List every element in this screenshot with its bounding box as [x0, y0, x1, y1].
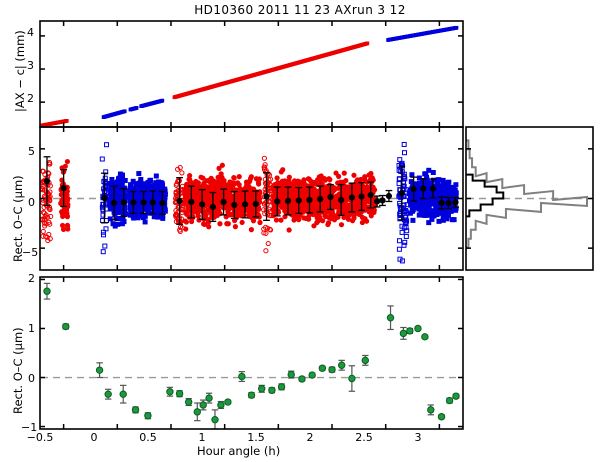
middle-scatter-point-6 [185, 212, 189, 216]
middle-mean-marker-7 [150, 199, 156, 205]
middle-mean-marker-19 [285, 198, 291, 204]
middle-mean-marker-29 [379, 197, 385, 203]
bottom-data-point-37 [453, 393, 459, 399]
middle-scatter-point-8 [304, 209, 308, 213]
middle-mean-marker-37 [452, 199, 458, 205]
middle-mean-marker-9 [176, 198, 182, 204]
middle-mean-marker-35 [438, 200, 444, 206]
middle-scatter-point-10 [454, 208, 458, 212]
middle-scatter-point-8 [372, 208, 376, 212]
middle-scatter-point-9 [403, 151, 407, 155]
middle-scatter-point-6 [258, 220, 262, 224]
bottom-data-point-2 [96, 367, 102, 373]
middle-scatter-point-5 [180, 171, 184, 175]
middle-scatter-point-6 [249, 228, 253, 232]
middle-scatter-point-6 [226, 194, 230, 198]
middle-mean-marker-12 [210, 204, 216, 210]
middle-mean-marker-3 [111, 200, 117, 206]
middle-scatter-point-8 [291, 185, 295, 189]
middle-scatter-point-6 [248, 179, 252, 183]
middle-scatter-point-8 [321, 219, 325, 223]
bottom-data-point-9 [185, 399, 191, 405]
middle-scatter-point-10 [431, 171, 435, 175]
middle-scatter-point-3 [117, 210, 121, 214]
middle-scatter-point-8 [363, 177, 367, 181]
middle-mean-marker-16 [253, 201, 259, 207]
middle-scatter-point-3 [113, 224, 117, 228]
middle-scatter-point-3 [118, 172, 122, 176]
bottom-data-point-34 [428, 407, 434, 413]
middle-scatter-point-9 [397, 182, 401, 186]
middle-scatter-point-4 [128, 187, 132, 191]
middle-scatter-point-8 [302, 216, 306, 220]
middle-scatter-point-8 [356, 201, 360, 205]
middle-scatter-point-8 [346, 217, 350, 221]
middle-scatter-point-6 [197, 218, 201, 222]
middle-scatter-point-6 [204, 213, 208, 217]
middle-scatter-point-4 [150, 185, 154, 189]
middle-mean-marker-18 [274, 198, 280, 204]
bottom-panel-frame [40, 277, 463, 429]
middle-scatter-point-10 [418, 205, 422, 209]
middle-scatter-point-4 [163, 208, 167, 212]
top-marker-3 [161, 99, 164, 103]
middle-scatter-point-9 [397, 247, 401, 251]
middle-scatter-point-10 [419, 210, 423, 214]
middle-scatter-point-8 [275, 176, 279, 180]
bottom-data-point-4 [120, 391, 126, 397]
middle-scatter-point-3 [124, 212, 128, 216]
middle-scatter-point-6 [189, 219, 193, 223]
bottom-data-point-11 [200, 402, 206, 408]
middle-scatter-point-6 [248, 199, 252, 203]
top-marker-1 [123, 109, 126, 113]
middle-mean-marker-28 [374, 198, 380, 204]
middle-mean-marker-22 [317, 196, 323, 202]
middle-scatter-point-8 [295, 215, 299, 219]
bottom-data-point-18 [258, 386, 264, 392]
middle-scatter-point-6 [227, 182, 231, 186]
middle-mean-marker-32 [411, 186, 417, 192]
middle-scatter-point-6 [206, 217, 210, 221]
middle-scatter-point-3 [122, 220, 126, 224]
bottom-data-point-21 [288, 371, 294, 377]
middle-scatter-point-10 [436, 184, 440, 188]
middle-scatter-point-6 [215, 185, 219, 189]
bottom-data-point-6 [145, 413, 151, 419]
middle-scatter-point-1 [60, 223, 64, 227]
middle-mean-marker-34 [430, 185, 436, 191]
middle-scatter-point-6 [207, 225, 211, 229]
middle-scatter-point-4 [154, 181, 158, 185]
middle-mean-marker-1 [61, 185, 67, 191]
top-marker-4 [366, 41, 369, 45]
middle-scatter-point-8 [326, 222, 330, 226]
middle-scatter-point-8 [285, 180, 289, 184]
middle-mean-marker-36 [445, 200, 451, 206]
middle-scatter-point-10 [430, 217, 434, 221]
middle-scatter-point-6 [257, 177, 261, 181]
middle-scatter-point-3 [110, 177, 114, 181]
middle-scatter-point-6 [237, 195, 241, 199]
middle-scatter-point-6 [199, 175, 203, 179]
middle-scatter-point-4 [160, 185, 164, 189]
middle-scatter-point-1 [64, 208, 68, 212]
middle-scatter-point-6 [218, 222, 222, 226]
middle-mean-marker-2 [101, 195, 107, 201]
middle-scatter-point-6 [231, 182, 235, 186]
middle-scatter-point-7 [264, 249, 268, 253]
bottom-data-point-1 [63, 323, 69, 329]
bottom-data-point-23 [309, 372, 315, 378]
middle-scatter-point-4 [139, 183, 143, 187]
middle-scatter-point-6 [219, 172, 223, 176]
bottom-panel-plot-area [41, 283, 462, 429]
middle-scatter-point-6 [232, 175, 236, 179]
bottom-data-point-20 [278, 384, 284, 390]
middle-scatter-point-9 [402, 142, 406, 146]
middle-scatter-point-4 [137, 172, 141, 176]
middle-scatter-point-4 [131, 179, 135, 183]
middle-scatter-point-8 [346, 203, 350, 207]
middle-scatter-point-4 [155, 215, 159, 219]
middle-scatter-point-8 [284, 210, 288, 214]
middle-scatter-point-6 [196, 214, 200, 218]
top-marker-2 [135, 106, 138, 110]
top-marker-5 [455, 26, 458, 30]
histogram-all-data-outline [466, 140, 587, 247]
middle-mean-marker-6 [141, 199, 147, 205]
middle-mean-marker-26 [358, 193, 364, 199]
middle-scatter-point-10 [442, 214, 446, 218]
middle-scatter-point-6 [184, 220, 188, 224]
middle-scatter-point-2 [105, 143, 109, 147]
middle-scatter-point-8 [335, 203, 339, 207]
middle-scatter-point-6 [208, 186, 212, 190]
bottom-data-point-15 [225, 399, 231, 405]
bottom-data-point-17 [248, 392, 254, 398]
middle-scatter-point-10 [423, 200, 427, 204]
bottom-data-point-35 [438, 414, 444, 420]
middle-scatter-point-10 [427, 168, 431, 172]
middle-scatter-point-6 [233, 218, 237, 222]
middle-mean-marker-14 [231, 202, 237, 208]
middle-scatter-point-2 [100, 157, 104, 161]
top-marker-0 [65, 119, 68, 123]
bottom-data-point-25 [329, 366, 335, 372]
middle-mean-marker-5 [130, 199, 136, 205]
middle-scatter-point-8 [291, 181, 295, 185]
middle-scatter-point-4 [154, 174, 158, 178]
middle-scatter-point-8 [365, 219, 369, 223]
middle-mean-marker-24 [338, 197, 344, 203]
middle-scatter-point-8 [345, 196, 349, 200]
middle-scatter-point-8 [300, 203, 304, 207]
bottom-data-point-19 [269, 387, 275, 393]
middle-scatter-point-10 [424, 207, 428, 211]
middle-scatter-point-6 [203, 184, 207, 188]
middle-scatter-point-10 [441, 178, 445, 182]
middle-scatter-point-2 [103, 244, 107, 248]
middle-scatter-point-9 [398, 239, 402, 243]
bottom-data-point-10 [194, 409, 200, 415]
middle-scatter-point-9 [400, 230, 404, 234]
bottom-data-point-31 [407, 328, 413, 334]
middle-scatter-point-6 [183, 201, 187, 205]
middle-scatter-point-6 [249, 175, 253, 179]
middle-mean-marker-13 [220, 199, 226, 205]
middle-scatter-point-6 [189, 180, 193, 184]
middle-scatter-point-10 [418, 181, 422, 185]
plot-graphics-layer [0, 0, 600, 462]
middle-scatter-point-8 [287, 228, 291, 232]
middle-scatter-point-8 [296, 179, 300, 183]
middle-mean-marker-8 [159, 200, 165, 206]
middle-scatter-point-10 [437, 219, 441, 223]
middle-scatter-point-6 [220, 163, 224, 167]
middle-scatter-point-3 [116, 192, 120, 196]
bottom-data-point-24 [319, 365, 325, 371]
bottom-data-point-29 [387, 314, 393, 320]
middle-mean-marker-20 [296, 197, 302, 203]
middle-scatter-point-8 [342, 171, 346, 175]
middle-scatter-point-4 [137, 198, 141, 202]
middle-scatter-point-3 [117, 206, 121, 210]
middle-scatter-point-2 [102, 233, 106, 237]
figure-canvas: HD10360 2011 11 23 AXrun 3 12 |AX − c| (… [0, 0, 600, 462]
middle-scatter-point-6 [226, 210, 230, 214]
middle-scatter-point-1 [65, 199, 69, 203]
bottom-data-point-33 [422, 334, 428, 340]
middle-scatter-point-10 [435, 191, 439, 195]
middle-scatter-point-10 [424, 193, 428, 197]
middle-scatter-point-6 [230, 186, 234, 190]
middle-scatter-point-10 [448, 190, 452, 194]
bottom-data-point-0 [44, 288, 50, 294]
bottom-data-point-7 [167, 389, 173, 395]
middle-scatter-point-1 [66, 224, 70, 228]
middle-scatter-point-6 [237, 175, 241, 179]
middle-scatter-point-8 [336, 194, 340, 198]
middle-scatter-point-8 [327, 215, 331, 219]
middle-scatter-point-6 [195, 208, 199, 212]
bottom-data-point-36 [446, 397, 452, 403]
middle-mean-marker-30 [386, 193, 392, 199]
middle-scatter-point-10 [410, 173, 414, 177]
middle-scatter-point-8 [337, 174, 341, 178]
bottom-data-point-8 [176, 390, 182, 396]
bottom-data-point-30 [400, 330, 406, 336]
middle-scatter-point-6 [241, 207, 245, 211]
bottom-data-point-3 [105, 391, 111, 397]
middle-panel-plot-area [40, 142, 462, 262]
bottom-data-point-5 [132, 407, 138, 413]
middle-scatter-point-4 [155, 209, 159, 213]
middle-scatter-point-6 [225, 222, 229, 226]
middle-scatter-point-6 [212, 179, 216, 183]
middle-scatter-point-8 [321, 205, 325, 209]
middle-scatter-point-8 [302, 178, 306, 182]
middle-scatter-point-8 [307, 177, 311, 181]
middle-scatter-point-0 [41, 229, 45, 233]
middle-mean-marker-0 [44, 178, 50, 184]
middle-scatter-point-4 [155, 192, 159, 196]
middle-scatter-point-8 [343, 192, 347, 196]
middle-mean-marker-21 [306, 197, 312, 203]
middle-scatter-point-10 [453, 192, 457, 196]
middle-scatter-point-7 [262, 156, 266, 160]
middle-scatter-point-7 [266, 241, 270, 245]
middle-scatter-point-8 [301, 193, 305, 197]
middle-scatter-point-4 [136, 205, 140, 209]
middle-scatter-point-8 [339, 223, 343, 227]
middle-scatter-point-6 [233, 225, 237, 229]
middle-scatter-point-8 [312, 210, 316, 214]
middle-scatter-point-8 [357, 212, 361, 216]
middle-scatter-point-8 [331, 187, 335, 191]
bottom-data-point-32 [415, 325, 421, 331]
middle-scatter-point-10 [411, 208, 415, 212]
middle-scatter-point-6 [245, 194, 249, 198]
middle-scatter-point-4 [146, 182, 150, 186]
bottom-data-point-14 [218, 402, 224, 408]
bottom-data-point-22 [299, 376, 305, 382]
middle-scatter-point-6 [257, 197, 261, 201]
middle-scatter-point-4 [150, 211, 154, 215]
middle-scatter-point-6 [240, 220, 244, 224]
middle-scatter-point-8 [279, 218, 283, 222]
middle-mean-marker-17 [263, 193, 269, 199]
middle-scatter-point-8 [352, 173, 356, 177]
middle-scatter-point-8 [332, 218, 336, 222]
middle-scatter-point-8 [312, 224, 316, 228]
middle-mean-marker-33 [420, 185, 426, 191]
bottom-data-point-16 [239, 373, 245, 379]
middle-scatter-point-8 [352, 216, 356, 220]
middle-scatter-point-4 [156, 185, 160, 189]
middle-scatter-point-10 [414, 203, 418, 207]
middle-scatter-point-10 [443, 192, 447, 196]
middle-scatter-point-8 [288, 207, 292, 211]
middle-scatter-point-10 [436, 178, 440, 182]
middle-scatter-point-1 [65, 159, 69, 163]
middle-scatter-point-6 [208, 196, 212, 200]
middle-scatter-point-8 [322, 177, 326, 181]
middle-scatter-point-8 [322, 189, 326, 193]
middle-scatter-point-8 [281, 168, 285, 172]
middle-scatter-point-8 [314, 189, 318, 193]
bottom-data-point-27 [349, 375, 355, 381]
middle-mean-marker-27 [368, 192, 374, 198]
middle-scatter-point-8 [300, 208, 304, 212]
middle-scatter-point-6 [214, 194, 218, 198]
bottom-data-point-28 [362, 357, 368, 363]
middle-scatter-point-6 [257, 182, 261, 186]
histogram-panel-plot-area [466, 140, 592, 247]
middle-scatter-point-6 [184, 227, 188, 231]
middle-scatter-point-8 [281, 193, 285, 197]
middle-scatter-point-6 [247, 184, 251, 188]
middle-scatter-point-6 [236, 181, 240, 185]
middle-mean-marker-11 [199, 201, 205, 207]
middle-scatter-point-6 [239, 214, 243, 218]
middle-mean-marker-25 [349, 194, 355, 200]
middle-scatter-point-4 [143, 220, 147, 224]
middle-scatter-point-10 [454, 183, 458, 187]
middle-scatter-point-6 [201, 222, 205, 226]
middle-scatter-point-1 [64, 213, 68, 217]
middle-scatter-point-8 [328, 178, 332, 182]
middle-scatter-point-8 [360, 220, 364, 224]
middle-mean-marker-31 [399, 190, 405, 196]
middle-scatter-point-6 [247, 207, 251, 211]
middle-scatter-point-8 [352, 207, 356, 211]
bottom-data-point-13 [212, 416, 218, 422]
middle-mean-marker-15 [242, 201, 248, 207]
middle-scatter-point-10 [441, 218, 445, 222]
middle-mean-marker-4 [121, 199, 127, 205]
middle-scatter-point-6 [219, 177, 223, 181]
middle-scatter-point-2 [101, 250, 105, 254]
middle-scatter-point-8 [340, 180, 344, 184]
top-panel-plot-area [41, 26, 459, 127]
middle-scatter-point-6 [221, 181, 225, 185]
middle-mean-marker-10 [188, 199, 194, 205]
middle-scatter-point-4 [163, 196, 167, 200]
middle-scatter-point-10 [411, 218, 415, 222]
middle-mean-marker-23 [327, 194, 333, 200]
middle-scatter-point-6 [228, 199, 232, 203]
bottom-data-point-26 [338, 362, 344, 368]
middle-scatter-point-10 [452, 218, 456, 222]
bottom-data-point-12 [206, 395, 212, 401]
middle-scatter-point-9 [404, 234, 408, 238]
middle-scatter-point-8 [274, 218, 278, 222]
